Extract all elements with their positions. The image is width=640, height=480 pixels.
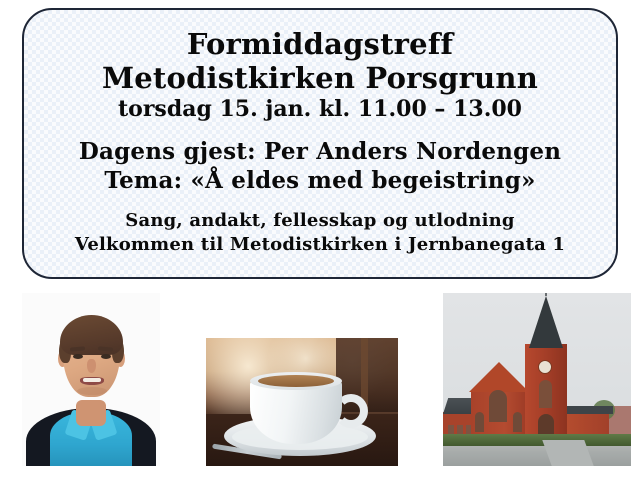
portrait-eye-right (101, 354, 111, 359)
portrait-eye-left (73, 354, 83, 359)
church-left-window-1 (448, 425, 454, 434)
church-cross-icon (545, 293, 547, 296)
portrait-chin-shadow (77, 387, 107, 395)
poster-title-line-1: Formiddagstreff (24, 27, 616, 61)
coffee-cup-photo (206, 338, 398, 466)
church-right-wing-roof (563, 406, 613, 414)
poster-theme: Tema: «Å eldes med begeistring» (24, 166, 616, 195)
poster-welcome: Velkommen til Metodistkirken i Jernbaneg… (24, 233, 616, 257)
church-spire (529, 296, 563, 348)
announcement-poster: Formiddagstreff Metodistkirken Porsgrunn… (22, 8, 618, 279)
church-left-window-2 (457, 425, 463, 434)
church-nave-window-1 (475, 412, 484, 432)
church-tower-window (539, 380, 552, 408)
coffee-liquid (258, 375, 334, 387)
portrait-neck (76, 400, 106, 426)
spacer-after-title (24, 123, 616, 137)
poster-text-block: Formiddagstreff Metodistkirken Porsgrunn… (24, 27, 616, 261)
speaker-portrait-photo (22, 293, 160, 466)
portrait-nose (87, 359, 96, 373)
church-gable-window (489, 390, 507, 422)
church-clock-icon (538, 360, 552, 374)
poster-title-line-2: Metodistkirken Porsgrunn (24, 61, 616, 95)
poster-datetime: torsdag 15. jan. kl. 11.00 – 13.00 (24, 95, 616, 123)
church-hedge (443, 434, 631, 446)
poster-program: Sang, andakt, fellesskap og utlodning (24, 209, 616, 233)
church-nave-window-2 (513, 412, 522, 432)
photo-row (0, 279, 640, 480)
church-gable-roof (469, 362, 529, 392)
spacer-after-guest (24, 195, 616, 209)
church-path (542, 440, 593, 466)
portrait-teeth (83, 378, 101, 382)
poster-guest: Dagens gjest: Per Anders Nordengen (24, 137, 616, 166)
church-photo (443, 293, 631, 466)
